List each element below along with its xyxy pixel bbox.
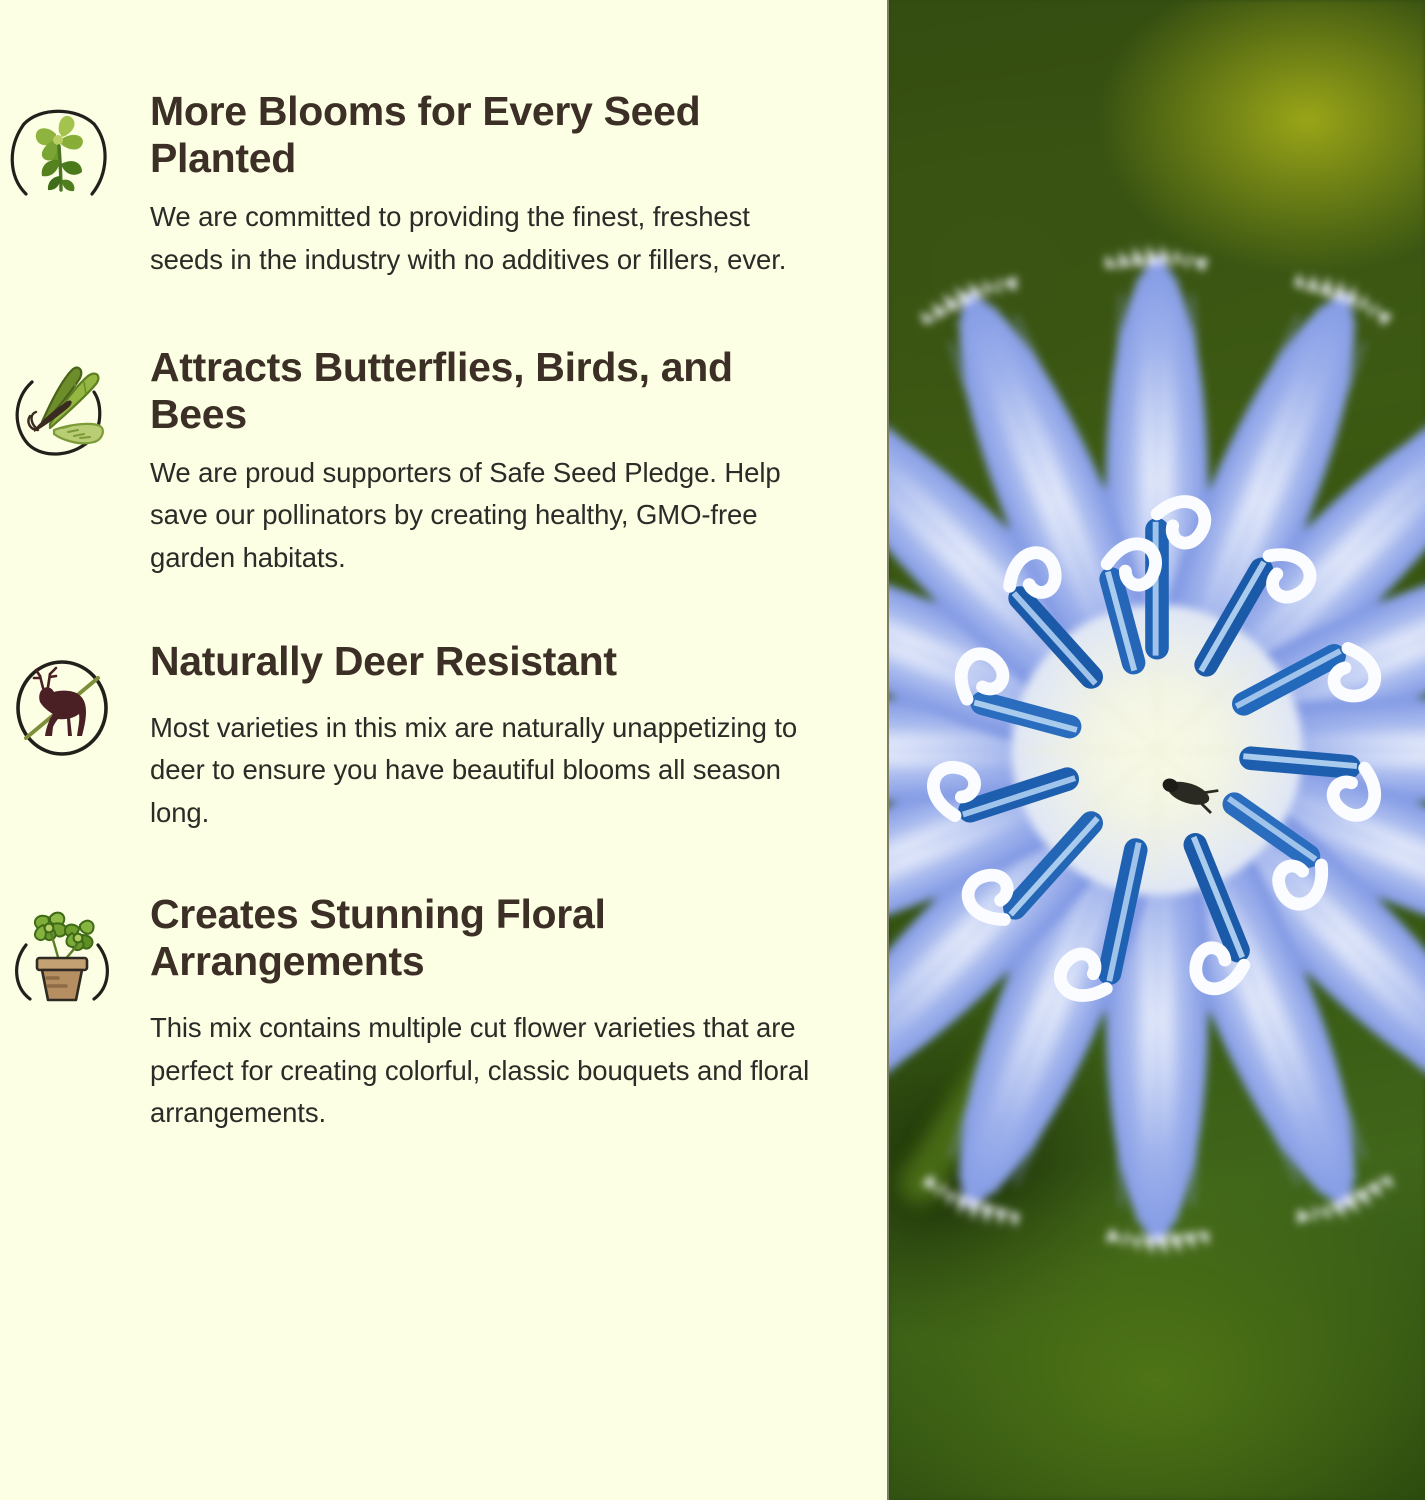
benefit-description: Most varieties in this mix are naturally… [150,707,817,835]
benefit-text-block: Attracts Butterflies, Birds, and Bees We… [150,344,847,580]
benefit-title: Creates Stunning Floral Arrangements [150,891,817,985]
butterfly-icon [10,356,114,460]
potted-plant-icon [10,905,114,1009]
benefit-item-deer-resistant: Naturally Deer Resistant Most varieties … [0,638,847,835]
benefits-panel: More Blooms for Every Seed Planted We ar… [0,0,887,1500]
benefit-text-block: Naturally Deer Resistant Most varieties … [150,638,847,835]
benefit-text-block: Creates Stunning Floral Arrangements Thi… [150,891,847,1135]
benefit-item-more-blooms: More Blooms for Every Seed Planted We ar… [0,88,847,282]
benefit-title: More Blooms for Every Seed Planted [150,88,817,182]
benefit-item-attracts-pollinators: Attracts Butterflies, Birds, and Bees We… [0,344,847,580]
benefit-description: We are committed to providing the finest… [150,196,817,281]
benefit-title: Naturally Deer Resistant [150,638,817,685]
benefit-description: We are proud supporters of Safe Seed Ple… [150,452,817,580]
benefit-item-floral-arrangements: Creates Stunning Floral Arrangements Thi… [0,891,847,1135]
product-benefits-page: More Blooms for Every Seed Planted We ar… [0,0,1425,1500]
flower-sprout-icon [10,102,114,206]
benefit-text-block: More Blooms for Every Seed Planted We ar… [150,88,847,282]
chicory-flower-closeup-photo [887,0,1425,1500]
chicory-flower [887,160,1425,1340]
benefit-description: This mix contains multiple cut flower va… [150,1007,817,1135]
benefit-title: Attracts Butterflies, Birds, and Bees [150,344,817,438]
no-deer-icon [10,656,114,760]
